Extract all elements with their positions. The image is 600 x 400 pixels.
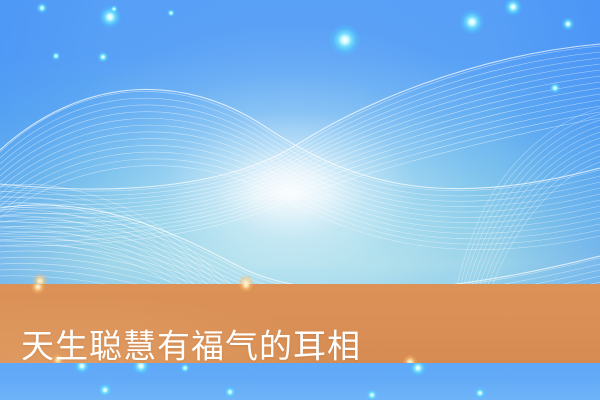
sparkle-dot xyxy=(225,387,236,398)
title-banner: 天生聪慧有福气的耳相 xyxy=(0,284,600,363)
image-canvas: 天生聪慧有福气的耳相 xyxy=(0,0,600,400)
sparkle-dot xyxy=(410,363,426,376)
sparkle-dot xyxy=(475,388,486,399)
sparkle-dot xyxy=(99,384,112,397)
sparkle-dot xyxy=(133,363,150,375)
sparkle-dot xyxy=(180,363,190,373)
bottom-strip xyxy=(0,363,600,400)
sparkle-dot xyxy=(75,363,90,374)
wave-band-upper-fan xyxy=(0,46,600,246)
wave-highlight-ribbons xyxy=(0,44,600,290)
banner-title: 天生聪慧有福气的耳相 xyxy=(21,329,361,362)
sparkle-dot xyxy=(367,390,378,400)
